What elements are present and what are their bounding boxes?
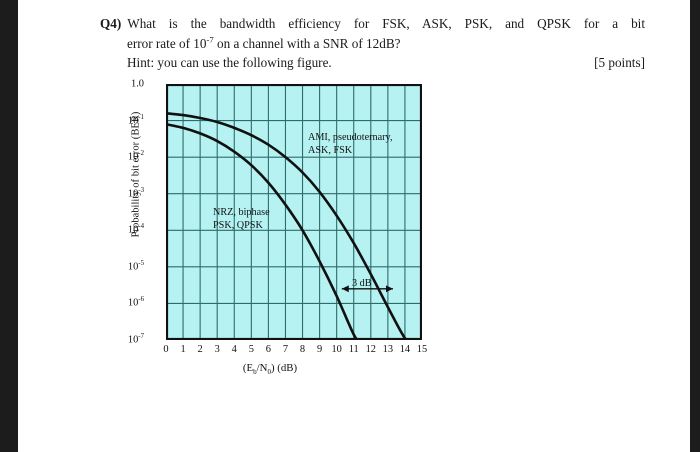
y-tick-label: 10-6 [98, 298, 144, 309]
question-text-line1: What is the bandwidth efficiency for FSK… [127, 14, 645, 34]
y-tick-exponent: -1 [138, 114, 144, 121]
annotation-ami: AMI, pseudoternary, ASK, FSK [308, 131, 393, 157]
plot-area: AMI, pseudoternary, ASK, FSK NRZ, biphas… [166, 84, 422, 340]
question-line-3: Hint: you can use the following figure. … [127, 53, 645, 73]
annotation-ami-line2: ASK, FSK [308, 144, 393, 157]
y-tick-label: 10-1 [98, 115, 144, 126]
document-page: Q4) What is the bandwidth efficiency for… [18, 0, 690, 452]
y-tick-label: 1.0 [98, 79, 144, 90]
question-text-line2-post: on a channel with a SNR of 12dB? [214, 36, 401, 51]
annotation-ami-line1: AMI, pseudoternary, [308, 131, 393, 144]
y-tick-base: 10 [128, 115, 138, 126]
y-tick-base: 10 [128, 152, 138, 163]
x-axis-title: (Eb/N0) (dB) [130, 362, 410, 374]
question-exponent: -7 [206, 34, 213, 44]
y-tick-base: 10 [128, 298, 138, 309]
x-tick-label: 15 [410, 344, 434, 355]
y-tick-label: 10-7 [98, 335, 144, 346]
y-tick-exponent: -5 [138, 260, 144, 267]
y-tick-exponent: -4 [138, 223, 144, 230]
ber-figure: Probability of bit error (BER) 1.010-110… [80, 74, 430, 384]
x-axis-title-slash: /N [257, 362, 268, 374]
annotation-nrz-line2: PSK, QPSK [213, 219, 270, 232]
y-tick-base: 10 [128, 335, 138, 346]
y-tick-label: 10-2 [98, 152, 144, 163]
question-hint: Hint: you can use the following figure. [127, 53, 332, 73]
y-tick-exponent: -7 [138, 333, 144, 340]
right-edge-bar [690, 0, 700, 452]
question-line-2: error rate of 10-7 on a channel with a S… [127, 34, 645, 54]
y-tick-label: 10-5 [98, 261, 144, 272]
y-tick-exponent: -3 [138, 187, 144, 194]
y-axis-title: Probability of bit error (BER) [131, 85, 142, 265]
question-line-1: Q4) What is the bandwidth efficiency for… [100, 14, 645, 34]
y-tick-label: 10-3 [98, 188, 144, 199]
left-edge-bar [0, 0, 18, 452]
question-block: Q4) What is the bandwidth efficiency for… [100, 14, 645, 73]
x-axis-title-open: (E [243, 362, 253, 374]
annotation-nrz: NRZ, biphase PSK, QPSK [213, 206, 270, 232]
x-axis-title-close: ) (dB) [271, 362, 297, 374]
y-tick-label: 10-4 [98, 225, 144, 236]
y-tick-base: 10 [128, 261, 138, 272]
y-tick-base: 10 [128, 225, 138, 236]
plot-svg [166, 84, 422, 340]
question-points: [5 points] [594, 53, 645, 73]
annotation-nrz-line1: NRZ, biphase [213, 206, 270, 219]
y-tick-exponent: -6 [138, 296, 144, 303]
question-text-line2-pre: error rate of 10 [127, 36, 206, 51]
annotation-3db-label: 3 dB [352, 278, 372, 289]
y-tick-exponent: -2 [138, 150, 144, 157]
question-number: Q4) [100, 14, 121, 34]
y-tick-base: 10 [128, 188, 138, 199]
